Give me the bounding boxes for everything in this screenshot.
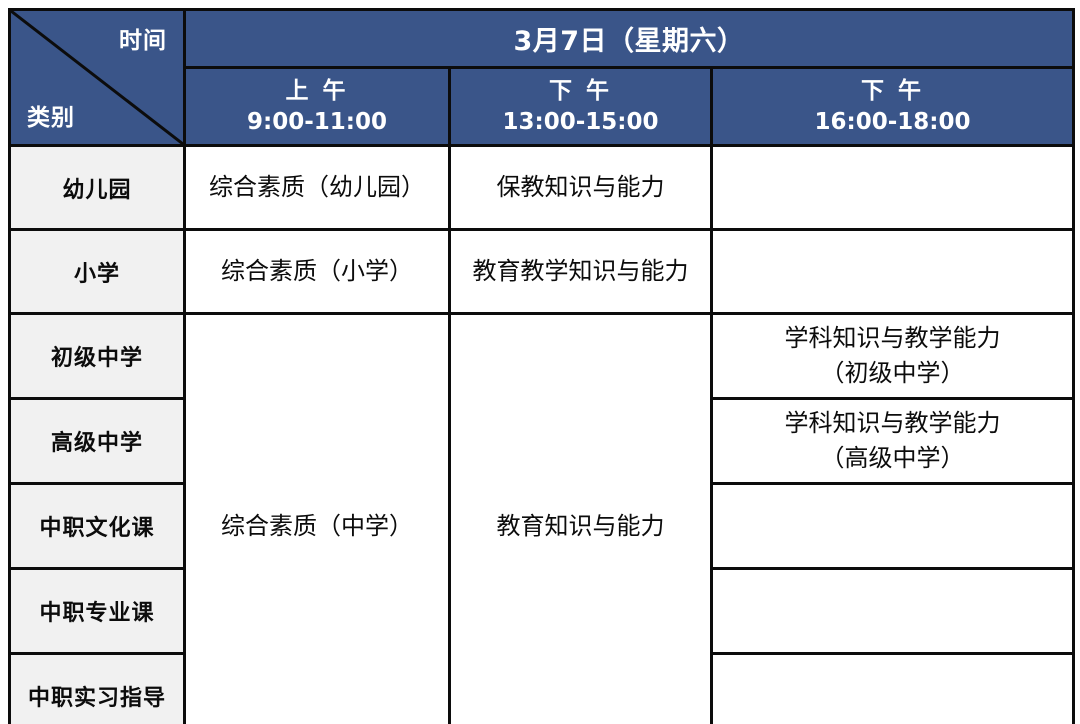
corner-header-cell: 时间 类别 — [10, 10, 185, 146]
corner-time-label: 时间 — [119, 21, 167, 55]
time-slot-header-afternoon-2: 下 午 16:00-18:00 — [712, 68, 1074, 146]
subject-cell-kindergarten-pm1: 保教知识与能力 — [450, 146, 712, 230]
corner-category-label: 类别 — [27, 98, 75, 132]
category-cell-vocational-specialty: 中职专业课 — [10, 569, 185, 654]
time-slot-header-afternoon-1: 下 午 13:00-15:00 — [450, 68, 712, 146]
subject-cell-primary-am: 综合素质（小学） — [185, 230, 450, 314]
subject-cell-kindergarten-am: 综合素质（幼儿园） — [185, 146, 450, 230]
subject-text-line-1: 学科知识与教学能力 — [713, 406, 1072, 441]
slot-time-range: 13:00-15:00 — [451, 107, 710, 137]
time-slot-header-morning: 上 午 9:00-11:00 — [185, 68, 450, 146]
table-row: 初级中学 综合素质（中学） 教育知识与能力 学科知识与教学能力 （初级中学） — [10, 314, 1074, 399]
schedule-table: 时间 类别 3月7日（星期六） 上 午 9:00-11:00 下 午 13:00… — [8, 8, 1075, 724]
slot-time-range: 16:00-18:00 — [713, 107, 1072, 137]
subject-text: 教育知识与能力 — [451, 509, 710, 544]
category-cell-kindergarten: 幼儿园 — [10, 146, 185, 230]
subject-cell-kindergarten-pm2 — [712, 146, 1074, 230]
subject-cell-primary-pm2 — [712, 230, 1074, 314]
subject-cell-secondary-pm1-merged: 教育知识与能力 — [450, 314, 712, 724]
category-cell-junior-high: 初级中学 — [10, 314, 185, 399]
date-header-cell: 3月7日（星期六） — [185, 10, 1074, 68]
subject-text-line-1: 学科知识与教学能力 — [713, 321, 1072, 356]
subject-cell-vocational-internship-pm2 — [712, 654, 1074, 724]
table-row: 小学 综合素质（小学） 教育教学知识与能力 — [10, 230, 1074, 314]
subject-text: 综合素质（中学） — [186, 509, 448, 544]
subject-text-line-2: （高级中学） — [713, 441, 1072, 476]
slot-period-label: 下 午 — [713, 76, 1072, 106]
subject-cell-primary-pm1: 教育教学知识与能力 — [450, 230, 712, 314]
slot-period-label: 下 午 — [451, 76, 710, 106]
subject-cell-secondary-am-merged: 综合素质（中学） — [185, 314, 450, 724]
category-cell-vocational-internship: 中职实习指导 — [10, 654, 185, 724]
slot-time-range: 9:00-11:00 — [186, 107, 448, 137]
subject-cell-vocational-general-pm2 — [712, 484, 1074, 569]
category-cell-senior-high: 高级中学 — [10, 399, 185, 484]
slot-period-label: 上 午 — [186, 76, 448, 106]
table-row: 幼儿园 综合素质（幼儿园） 保教知识与能力 — [10, 146, 1074, 230]
exam-schedule-table: 时间 类别 3月7日（星期六） 上 午 9:00-11:00 下 午 13:00… — [0, 0, 1080, 724]
table-header-row-date: 时间 类别 3月7日（星期六） — [10, 10, 1074, 68]
subject-text-line-2: （初级中学） — [713, 356, 1072, 391]
category-cell-primary-school: 小学 — [10, 230, 185, 314]
subject-cell-senior-high-pm2: 学科知识与教学能力 （高级中学） — [712, 399, 1074, 484]
subject-cell-junior-high-pm2: 学科知识与教学能力 （初级中学） — [712, 314, 1074, 399]
category-cell-vocational-general: 中职文化课 — [10, 484, 185, 569]
subject-cell-vocational-specialty-pm2 — [712, 569, 1074, 654]
